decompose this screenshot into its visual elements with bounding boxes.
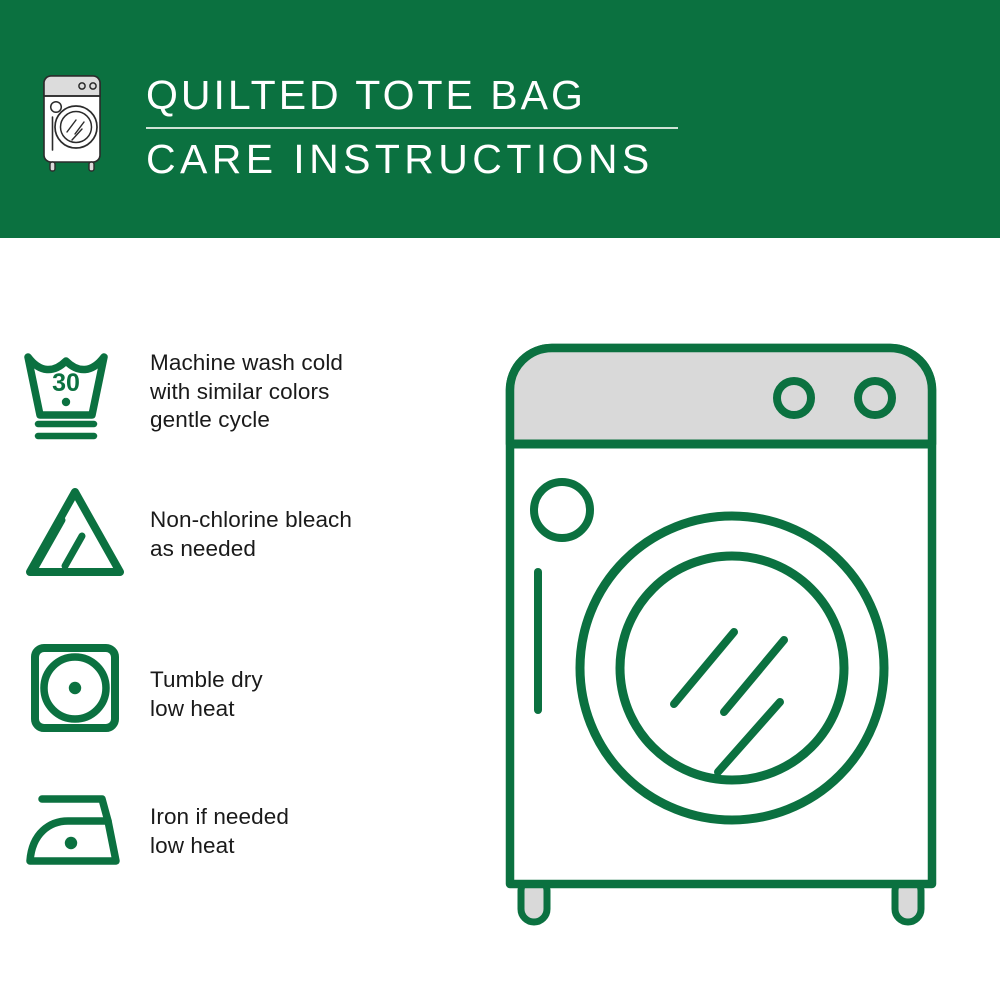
care-row-bleach: Non-chlorine bleach as needed	[0, 480, 470, 582]
header-text-block: QUILTED TOTE BAG CARE INSTRUCTIONS	[146, 72, 766, 182]
iron-low-heat-icon	[0, 783, 150, 885]
page-title: QUILTED TOTE BAG	[146, 72, 766, 118]
page-subtitle: CARE INSTRUCTIONS	[146, 136, 766, 182]
wash-tub-30-gentle-icon: 30	[0, 341, 150, 443]
care-label-bleach: Non-chlorine bleach as needed	[150, 480, 352, 563]
care-instruction-list: 30 Machine wash cold with similar colors…	[0, 238, 470, 1000]
tumble-dry-low-heat-icon	[0, 638, 150, 740]
care-row-machine-wash: 30 Machine wash cold with similar colors…	[0, 341, 470, 443]
care-row-iron: Iron if needed low heat	[0, 783, 470, 885]
title-divider	[146, 127, 678, 129]
header-banner: QUILTED TOTE BAG CARE INSTRUCTIONS	[0, 0, 1000, 238]
care-row-tumble-dry: Tumble dry low heat	[0, 638, 470, 740]
non-chlorine-bleach-triangle-icon	[0, 480, 150, 582]
care-label-tumble-dry: Tumble dry low heat	[150, 638, 263, 723]
washing-machine-icon	[41, 70, 103, 174]
wash-temperature-value: 30	[52, 369, 80, 397]
care-label-machine-wash: Machine wash cold with similar colors ge…	[150, 341, 343, 435]
care-label-iron: Iron if needed low heat	[150, 783, 289, 860]
care-instructions-infographic: QUILTED TOTE BAG CARE INSTRUCTIONS 30	[0, 0, 1000, 1000]
front-load-washing-machine-illustration	[492, 330, 982, 940]
